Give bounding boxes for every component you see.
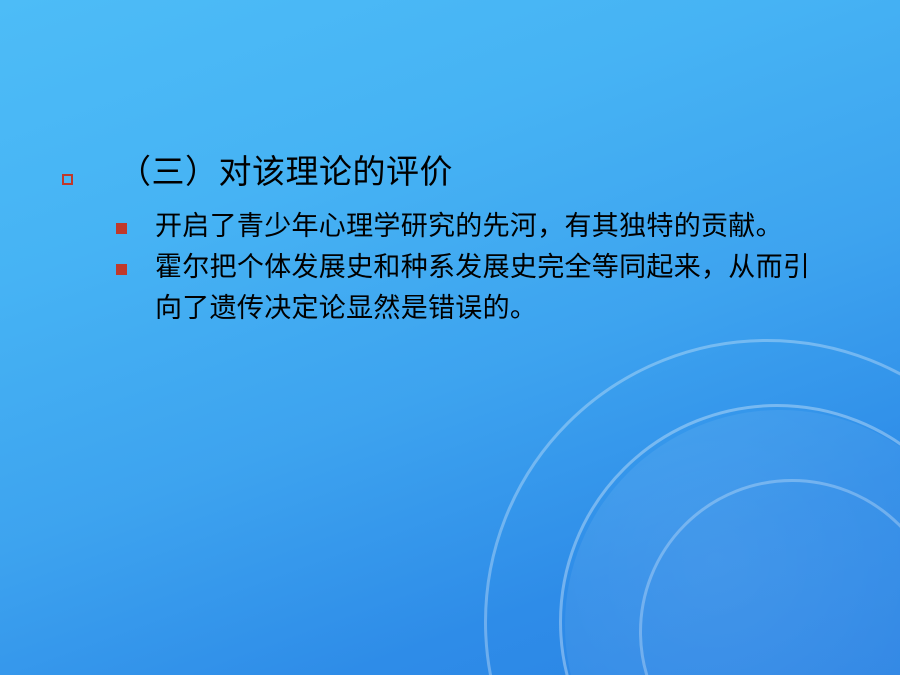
bullet-item-1: 开启了青少年心理学研究的先河，有其独特的贡献。	[0, 206, 900, 247]
decorative-arc-inner	[639, 479, 900, 675]
filled-square-bullet-icon	[116, 223, 127, 234]
decorative-circle-glow	[565, 410, 900, 675]
heading-body-spacer	[0, 198, 900, 206]
decorative-arc-outer	[484, 339, 900, 675]
top-spacer	[0, 0, 900, 150]
decorative-arc-middle	[559, 404, 900, 675]
presentation-slide: （三）对该理论的评价 开启了青少年心理学研究的先河，有其独特的贡献。 霍尔把个体…	[0, 0, 900, 675]
hollow-square-bullet-icon	[62, 174, 73, 185]
slide-heading-item: （三）对该理论的评价	[0, 150, 900, 198]
filled-square-bullet-icon	[116, 264, 127, 275]
slide-content: （三）对该理论的评价 开启了青少年心理学研究的先河，有其独特的贡献。 霍尔把个体…	[0, 0, 900, 329]
bullet-item-2-text: 霍尔把个体发展史和种系发展史完全等同起来，从而引向了遗传决定论显然是错误的。	[155, 247, 830, 329]
slide-heading-text: （三）对该理论的评价	[118, 150, 900, 198]
bullet-item-2: 霍尔把个体发展史和种系发展史完全等同起来，从而引向了遗传决定论显然是错误的。	[0, 247, 900, 329]
bullet-item-1-text: 开启了青少年心理学研究的先河，有其独特的贡献。	[155, 206, 830, 247]
